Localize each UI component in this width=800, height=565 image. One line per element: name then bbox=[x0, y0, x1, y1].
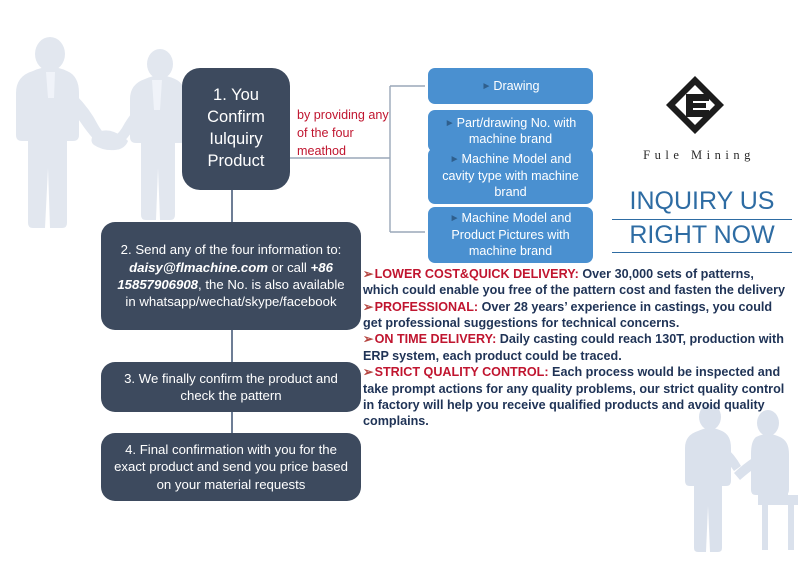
step1-line-3: Iulquiry bbox=[207, 129, 265, 151]
step1-line-2: Confirm bbox=[207, 107, 265, 129]
benefits-list: ➢LOWER COST&QUICK DELIVERY: Over 30,000 … bbox=[363, 266, 788, 430]
method-caption: by providing any of the four meathod bbox=[297, 107, 393, 161]
option-label-4: Machine Model and Product Pictures with … bbox=[451, 211, 571, 258]
fule-mining-diamond-e-logo-icon bbox=[664, 74, 726, 136]
contact-email: daisy@flmachine.com bbox=[129, 260, 268, 275]
option-box-part-drawing-no: ►Part/drawing No. with machine brand bbox=[428, 110, 593, 152]
flow-step-4-final-confirmation: 4. Final confirmation with you for the e… bbox=[101, 433, 361, 501]
step2-text-mid: or call bbox=[268, 260, 311, 275]
arrow-bullet-icon: ➢ bbox=[363, 300, 374, 314]
arrow-bullet-icon: ➢ bbox=[363, 365, 374, 379]
flow-step-3-confirm-product: 3. We finally confirm the product and ch… bbox=[101, 362, 361, 412]
benefit-item-strict-quality-control: ➢STRICT QUALITY CONTROL: Each process wo… bbox=[363, 364, 788, 429]
benefit-item-lower-cost: ➢LOWER COST&QUICK DELIVERY: Over 30,000 … bbox=[363, 266, 788, 299]
cta-line-1: INQUIRY US bbox=[612, 186, 792, 220]
connector-step1-step2 bbox=[231, 190, 233, 222]
infographic-canvas: 1. You Confirm Iulquiry Product 2. Send … bbox=[0, 0, 800, 565]
benefit-item-professional: ➢PROFESSIONAL: Over 28 years’ experience… bbox=[363, 299, 788, 332]
arrow-bullet-icon: ➢ bbox=[363, 267, 374, 281]
connector-step3-step4 bbox=[231, 412, 233, 433]
brand-name: Fule Mining bbox=[614, 148, 784, 163]
flow-step-2-send-information: 2. Send any of the four information to: … bbox=[101, 222, 361, 330]
step2-text-pre: 2. Send any of the four information to: bbox=[121, 242, 342, 257]
benefit-heading-2: PROFESSIONAL: bbox=[375, 300, 479, 314]
step1-line-1: 1. You bbox=[207, 85, 265, 107]
triangle-bullet-icon: ► bbox=[481, 80, 491, 93]
option-label-2: Part/drawing No. with machine brand bbox=[457, 116, 577, 146]
step3-text: 3. We finally confirm the product and ch… bbox=[113, 370, 349, 405]
benefit-heading-3: ON TIME DELIVERY: bbox=[375, 332, 497, 346]
inquiry-cta-link[interactable]: INQUIRY US RIGHT NOW bbox=[612, 186, 792, 253]
option-box-machine-model-cavity: ►Machine Model and cavity type with mach… bbox=[428, 148, 593, 204]
step1-line-4: Product bbox=[207, 151, 265, 173]
benefit-heading-4: STRICT QUALITY CONTROL: bbox=[375, 365, 549, 379]
option-label-1: Drawing bbox=[493, 79, 539, 93]
flow-step-1-confirm-inquiry: 1. You Confirm Iulquiry Product bbox=[182, 68, 290, 190]
option-box-drawing: ►Drawing bbox=[428, 68, 593, 104]
triangle-bullet-icon: ► bbox=[445, 117, 455, 130]
benefit-item-on-time-delivery: ➢ON TIME DELIVERY: Daily casting could r… bbox=[363, 331, 788, 364]
triangle-bullet-icon: ► bbox=[450, 153, 460, 166]
option-box-machine-model-pictures: ►Machine Model and Product Pictures with… bbox=[428, 207, 593, 263]
connector-step2-step3 bbox=[231, 330, 233, 362]
triangle-bullet-icon: ► bbox=[450, 212, 460, 225]
step4-text: 4. Final confirmation with you for the e… bbox=[111, 441, 351, 493]
arrow-bullet-icon: ➢ bbox=[363, 332, 374, 346]
cta-line-2: RIGHT NOW bbox=[612, 220, 792, 254]
benefit-heading-1: LOWER COST&QUICK DELIVERY: bbox=[375, 267, 579, 281]
option-label-3: Machine Model and cavity type with machi… bbox=[442, 152, 579, 199]
